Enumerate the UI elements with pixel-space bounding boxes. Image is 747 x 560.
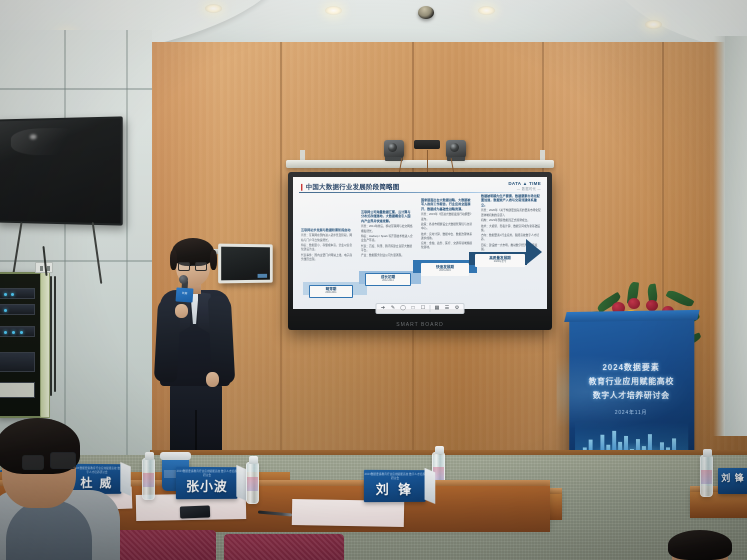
downlight: [205, 4, 222, 13]
nameplate-name: 张小波: [186, 480, 228, 493]
presenter-hand: [206, 372, 219, 387]
banner-line-3: 数字人才培养研讨会: [593, 390, 670, 401]
bottle-cap: [435, 446, 444, 454]
wall-seam: [0, 260, 152, 262]
red-rose: [628, 298, 640, 309]
table-segment: [690, 492, 747, 518]
more-icon[interactable]: ⚙: [454, 305, 461, 312]
rack-unit: [0, 288, 35, 299]
stage-years: 2012-2014: [382, 280, 393, 283]
stage-arrow-chart: 萌芽期 2000-2011 成长初期 2012-2014 快速发展期 2015-…: [297, 249, 543, 295]
column-body: 背景：2015年《促进大数据发展行动纲要》发布。 政策：各省市相继设立大数据管理…: [421, 213, 473, 250]
wall-seam: [126, 30, 128, 462]
cup-lid: [160, 452, 191, 460]
conference-room-photo: ❙中国大数据行业发展阶段简略图 DATA ▲ TIME — 数据时代 — 互联网…: [0, 0, 747, 560]
nameplate-liu-feng: 2024数据要素教育行业应用赋能高校 数字人才培养研讨会 刘 锋: [364, 470, 426, 502]
slide-title-underline: [299, 192, 535, 193]
wall-cable: [54, 276, 56, 392]
title-marker: ❙: [299, 184, 305, 191]
nameplate-subtitle: 2024数据要素教育行业应用赋能高校 数字人才培养研讨会: [364, 473, 426, 480]
presenter-hand: [175, 304, 188, 318]
pointer-icon[interactable]: ➔: [380, 305, 387, 312]
screen-glare: [11, 128, 85, 155]
status-led: [20, 331, 23, 334]
presenter-speaker: 数据: [150, 232, 246, 470]
rack-unit: [0, 352, 35, 372]
glasses-icon: [195, 262, 207, 271]
pen-icon[interactable]: ✎: [390, 305, 397, 312]
bottle-label: [247, 477, 258, 491]
bottle-label: [143, 473, 154, 487]
column-paragraph: 政策：各省市相继设立大数据管理局与交易中心。: [421, 223, 473, 231]
stage-card-2: 成长初期 2012-2014: [365, 273, 411, 286]
microphone-flag: 数据: [176, 287, 194, 302]
status-led: [11, 293, 14, 296]
column-paragraph: 背景：2011年前后，移动互联网与社交网络爆发增长。: [361, 225, 413, 233]
water-bottle: [246, 462, 259, 504]
paper-sheet: [292, 499, 404, 527]
column-paragraph: 技术：实时计算、数据中台、数据治理体系逐步成熟。: [421, 233, 473, 241]
stage-card-1: 萌芽期 2000-2011: [309, 285, 353, 298]
banner-line-1: 2024数据要素: [602, 362, 659, 373]
right-wall-panel: [725, 36, 747, 436]
status-led: [4, 293, 7, 296]
nameplate-wedge: [425, 468, 436, 504]
wall-seam: [64, 30, 66, 462]
column-paragraph: 背景：互联网在国内进入初步普及阶段，网站与门户平台快速增长。: [301, 234, 353, 242]
bottle-label: [701, 470, 712, 484]
chair: [224, 534, 344, 560]
microphone-head-icon: [179, 275, 188, 284]
red-rose: [646, 300, 658, 311]
nameplate-name: 刘 锋: [376, 483, 414, 496]
column-paragraph: 技术：大模型、隐私计算、数据空间成为新基础设施。: [481, 225, 541, 233]
downlight: [645, 20, 662, 29]
wall-cable: [50, 276, 52, 396]
nameplate-wedge: [120, 462, 130, 496]
banner-date: 2024年11月: [615, 409, 647, 416]
rack-door: [40, 272, 50, 418]
column-paragraph: 机构：2023年国家数据局正式挂牌成立。: [481, 219, 541, 223]
column-heading: 互联网初步发展与数据积累阶段启动: [301, 228, 353, 232]
smartboard[interactable]: ❙中国大数据行业发展阶段简略图 DATA ▲ TIME — 数据时代 — 互联网…: [288, 172, 552, 330]
rack-tray: [0, 382, 35, 398]
bottle-cap: [249, 456, 258, 464]
rack-unit: [0, 304, 35, 315]
presentation-slide: ❙中国大数据行业发展阶段简略图 DATA ▲ TIME — 数据时代 — 互联网…: [293, 177, 547, 309]
nameplate-name: 刘 锋: [721, 474, 745, 483]
water-bottle: [142, 458, 155, 500]
slide-column: 国家层面出台大数据战略，大数据被写入政府工作报告，行业应用全面展开，数据成为基础…: [421, 198, 473, 252]
column-paragraph: 特征：Hadoop / Spark 等开源技术栈进入企业生产环境。: [361, 235, 413, 243]
shape-icon[interactable]: □: [410, 305, 417, 312]
nameplate-right: 刘 锋: [718, 468, 747, 494]
monitor-badge: [258, 274, 268, 278]
slide-logo: DATA ▲ TIME — 数据时代 —: [508, 181, 541, 191]
nameplate-zhang-xiaobo: 2024数据要素教育行业应用赋能高校 数字人才培养研讨会 张小波: [176, 467, 237, 499]
arrow-head-icon: [526, 239, 542, 265]
presenter-hair-side: [210, 250, 217, 270]
chair-weave: [224, 534, 344, 560]
grid-icon[interactable]: ▦: [434, 305, 441, 312]
column-heading: 互联网公司海量数据汇聚，云计算与分布式存储落地，大数据概念引入国内产业界并快速发…: [361, 210, 413, 223]
dome-camera-icon: [418, 6, 434, 19]
eraser-icon[interactable]: ◯: [400, 305, 407, 312]
downlight: [325, 6, 342, 15]
nameplate-name: 杜 威: [80, 477, 113, 489]
stage-years: 2015-2019: [439, 270, 450, 273]
podium-banner-text: 2024数据要素 教育行业应用赋能高校 数字人才培养研讨会 2024年11月: [569, 362, 694, 417]
column-heading: 数据被明确为生产要素，数据要素市场化配置加速，数据资产入表与交易流通体系建立。: [481, 194, 541, 207]
ptz-camera-icon: [446, 140, 466, 158]
status-led: [4, 309, 7, 312]
camera-lens-icon: [388, 143, 397, 152]
frame-icon[interactable]: ☐: [420, 305, 427, 312]
glasses-icon: [22, 455, 44, 470]
mic-flag-text: 数据: [177, 291, 192, 295]
stage-years: 2000-2011: [325, 292, 336, 295]
presenter-hair-side: [170, 250, 177, 270]
smartphone[interactable]: [180, 505, 210, 518]
bottle-cap: [703, 449, 712, 457]
nameplate-subtitle: 2024数据要素教育行业应用赋能高校 数字人才培养研讨会: [72, 467, 121, 474]
event-podium: 2024数据要素 教育行业应用赋能高校 数字人才培养研讨会 2024年11月: [569, 317, 694, 467]
water-bottle: [700, 455, 713, 497]
glasses-icon: [50, 452, 76, 469]
column-paragraph: 背景：2020年《关于构建更加完善的要素市场化配置体制机制的意见》。: [481, 209, 541, 217]
status-led: [12, 331, 15, 334]
camera-wire: [427, 150, 428, 172]
stage-card-4: 高质量发展期 2020年至今: [475, 254, 525, 267]
slide-title: ❙中国大数据行业发展阶段简略图: [299, 181, 399, 191]
slide-header: ❙中国大数据行业发展阶段简略图 DATA ▲ TIME — 数据时代 —: [299, 181, 541, 191]
page-icon[interactable]: ☰: [444, 305, 451, 312]
banner-line-2: 教育行业应用赋能高校: [589, 376, 674, 387]
ceiling-speaker: [414, 140, 440, 149]
downlight: [478, 6, 495, 15]
wood-seam: [280, 42, 282, 462]
camera-lens-icon: [450, 143, 459, 152]
status-led: [4, 331, 7, 334]
slide-logo-sub: — 数据时代 —: [517, 186, 541, 191]
column-heading: 国家层面出台大数据战略，大数据被写入政府工作报告，行业应用全面展开，数据成为基础…: [421, 198, 473, 211]
toolbar-separator: [430, 305, 431, 312]
glasses-bridge: [191, 265, 195, 266]
left-tv-screen: [0, 116, 123, 225]
ptz-camera-icon: [384, 140, 404, 158]
projection-screen-bar: [286, 160, 554, 168]
rack-unit: [0, 326, 35, 337]
nameplate-subtitle: 2024数据要素教育行业应用赋能高校 数字人才培养研讨会: [176, 470, 237, 477]
glasses-icon: [178, 262, 190, 271]
smartboard-toolbar[interactable]: ➔ ✎ ◯ □ ☐ ▦ ☰ ⚙: [376, 303, 465, 314]
wall-seam: [0, 88, 152, 90]
column-paragraph: 背景：2015年《促进大数据发展行动纲要》发布。: [421, 213, 473, 221]
stage-card-3: 快速发展期 2015-2019: [421, 263, 469, 276]
audience-member-hair: [668, 530, 732, 560]
podium-top: [564, 310, 700, 322]
stage-years: 2020年至今: [494, 261, 507, 264]
board-brand-label: SMART BOARD: [396, 322, 444, 328]
slide-title-text: 中国大数据行业发展阶段简略图: [306, 184, 400, 191]
equipment-rack: [0, 272, 42, 418]
bottle-cap: [145, 452, 154, 460]
smartboard-screen[interactable]: ❙中国大数据行业发展阶段简略图 DATA ▲ TIME — 数据时代 — 互联网…: [293, 177, 547, 309]
